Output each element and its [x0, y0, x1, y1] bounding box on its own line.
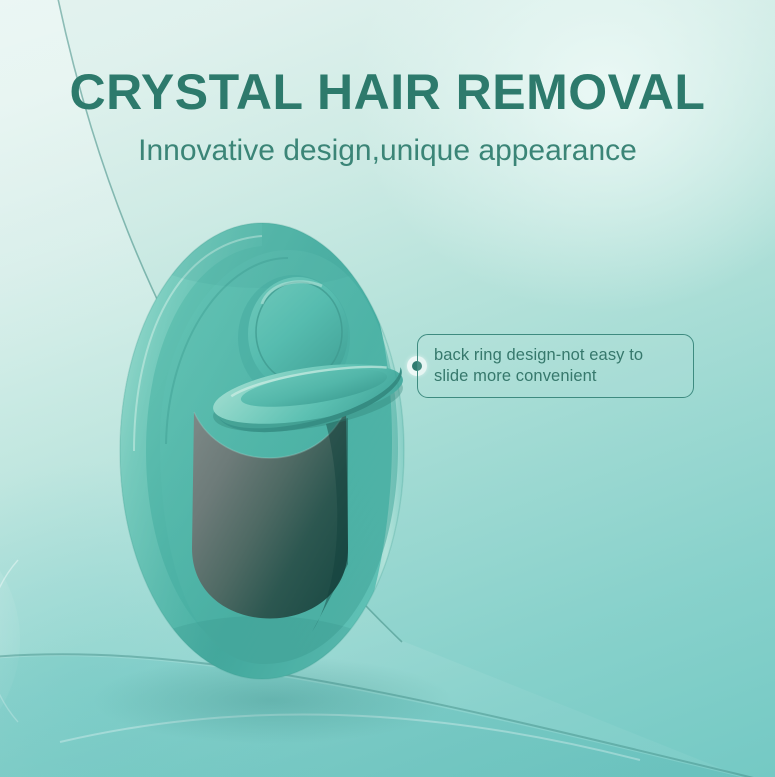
device-illustration: [112, 212, 432, 690]
page-subtitle: Innovative design,unique appearance: [0, 134, 775, 169]
page-title: CRYSTAL HAIR REMOVAL: [0, 66, 775, 119]
product-poster: CRYSTAL HAIR REMOVAL Innovative design,u…: [0, 0, 775, 777]
callout-text: back ring design-not easy to slide more …: [434, 345, 677, 387]
callout-box: back ring design-not easy to slide more …: [417, 334, 694, 398]
product-image: [112, 212, 432, 690]
device-body: [120, 212, 417, 690]
